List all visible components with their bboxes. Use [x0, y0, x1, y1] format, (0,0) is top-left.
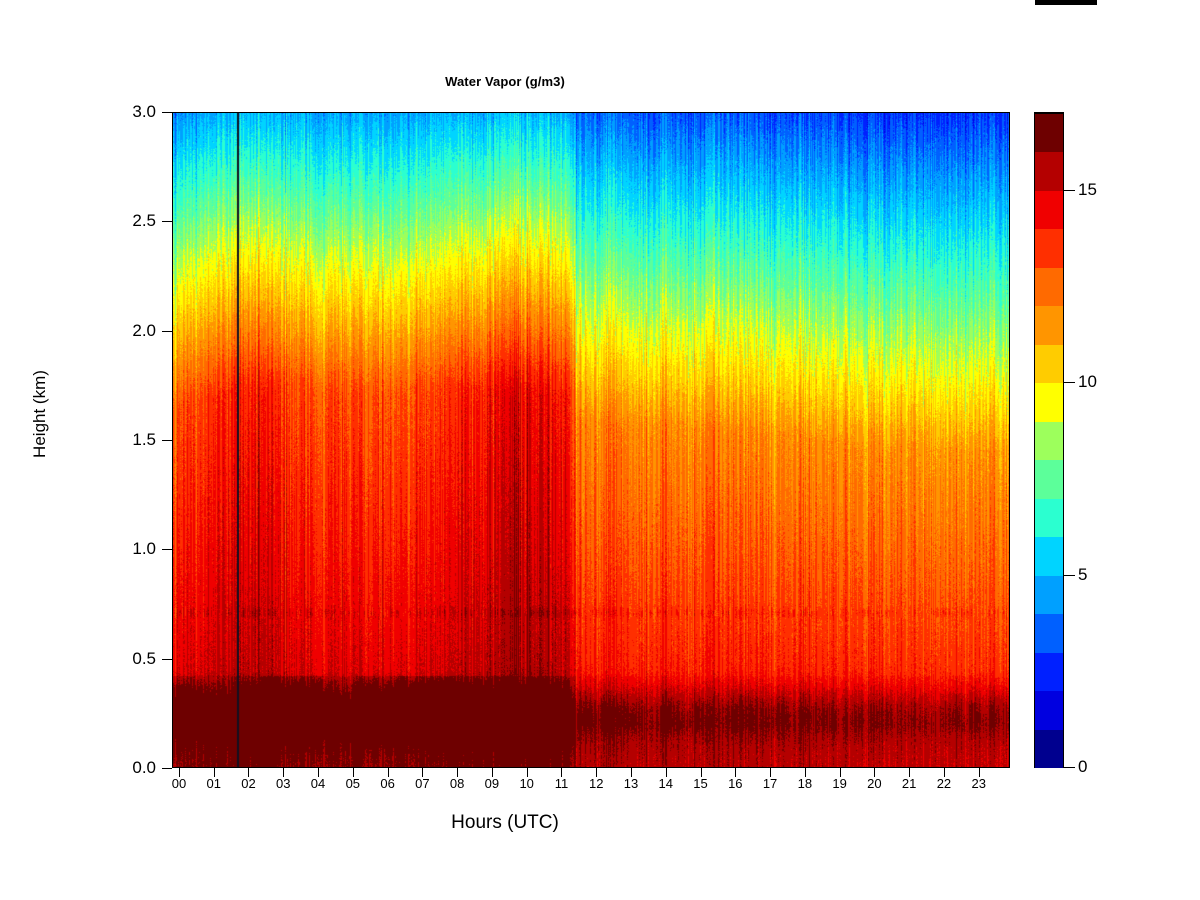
- y-axis-tick-label: 2.5: [110, 211, 156, 231]
- y-axis-tick-mark: [162, 331, 172, 332]
- x-axis-label: Hours (UTC): [0, 812, 1010, 834]
- colorbar-band: [1035, 421, 1063, 460]
- colorbar-band: [1035, 190, 1063, 229]
- colorbar-band: [1035, 536, 1063, 575]
- y-axis-tick-label: 1.0: [110, 539, 156, 559]
- x-axis-tick-label: 23: [959, 776, 999, 791]
- colorbar-tick-marks: [1064, 112, 1076, 768]
- y-axis-tick-label: 1.5: [110, 430, 156, 450]
- y-axis-tick-label: 0.5: [110, 649, 156, 669]
- heatmap-panel: [172, 112, 1010, 768]
- y-axis-tick-marks: [162, 0, 172, 900]
- colorbar-band: [1035, 729, 1063, 768]
- colorbar-tick-label: 0: [1078, 757, 1087, 777]
- colorbar-band: [1035, 113, 1063, 152]
- colorbar-band: [1035, 690, 1063, 729]
- y-axis-tick-labels: 0.00.51.01.52.02.53.0: [110, 0, 156, 900]
- colorbar-band: [1035, 575, 1063, 614]
- y-axis-tick-label: 2.0: [110, 321, 156, 341]
- x-axis-tick-labels: 0001020304050607080910111213141516171819…: [0, 776, 1200, 802]
- colorbar-tick-mark: [1064, 575, 1075, 576]
- colorbar-band: [1035, 228, 1063, 267]
- colorbar-band: [1035, 344, 1063, 383]
- colorbar-band: [1035, 151, 1063, 190]
- y-axis-tick-mark: [162, 440, 172, 441]
- colorbar-band: [1035, 498, 1063, 537]
- y-axis-tick-mark: [162, 549, 172, 550]
- y-axis-tick-mark: [162, 659, 172, 660]
- colorbar-band: [1035, 459, 1063, 498]
- colorbar-tick-labels: 051015: [1078, 112, 1138, 768]
- colorbar-tick-mark: [1064, 767, 1075, 768]
- colorbar-band: [1035, 652, 1063, 691]
- colorbar-tick-label: 5: [1078, 565, 1087, 585]
- y-axis-label: Height (km): [30, 314, 50, 514]
- y-axis-tick-mark: [162, 112, 172, 113]
- colorbar-band: [1035, 305, 1063, 344]
- water-vapor-figure: Water Vapor (g/m3) 0.00.51.01.52.02.53.0…: [0, 0, 1200, 900]
- y-axis-tick-mark: [162, 221, 172, 222]
- colorbar-tick-mark: [1064, 190, 1075, 191]
- colorbar-band: [1035, 267, 1063, 306]
- colorbar-band: [1035, 613, 1063, 652]
- top-edge-artifact: [1035, 0, 1097, 5]
- colorbar: [1034, 112, 1064, 768]
- colorbar-tick-label: 15: [1078, 180, 1097, 200]
- colorbar-band: [1035, 382, 1063, 421]
- colorbar-tick-label: 10: [1078, 372, 1097, 392]
- heatmap-canvas: [172, 112, 1010, 768]
- y-axis-tick-label: 3.0: [110, 102, 156, 122]
- colorbar-tick-mark: [1064, 382, 1075, 383]
